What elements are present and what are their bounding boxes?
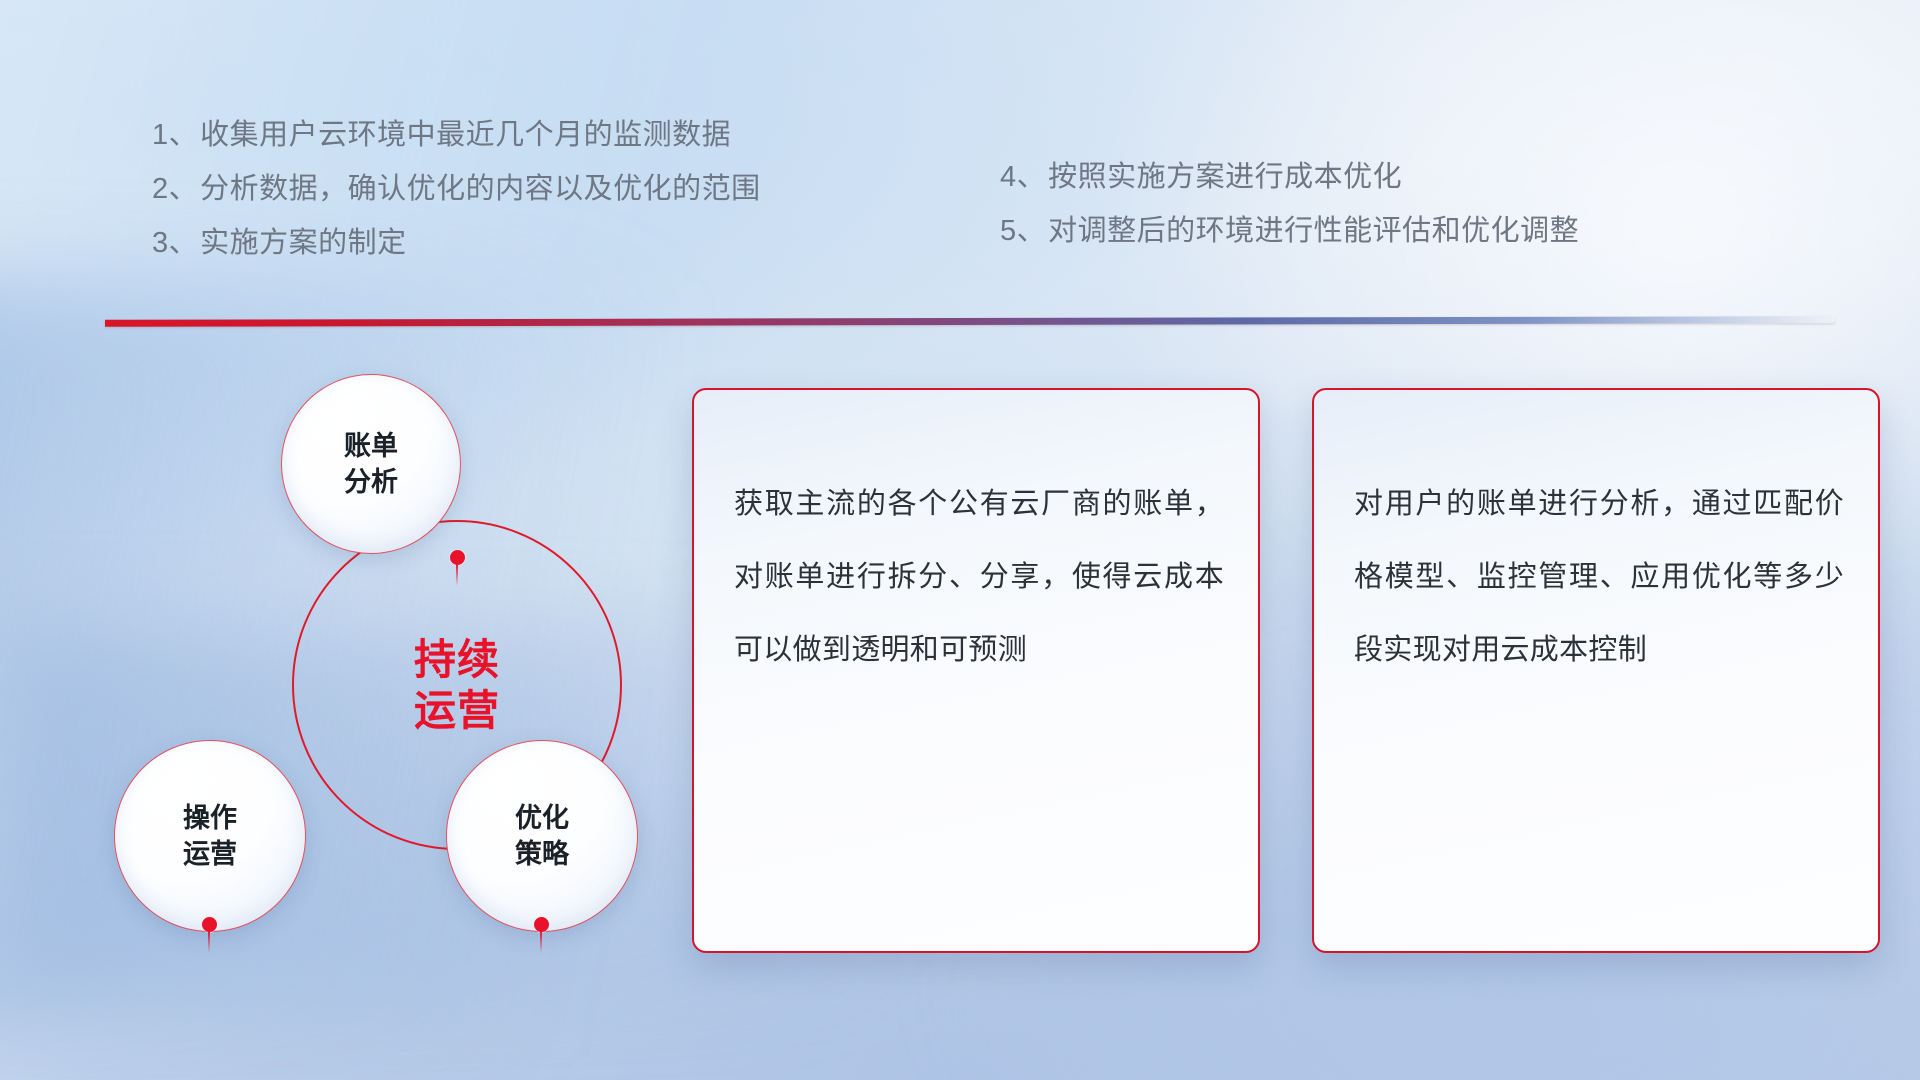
diagram-node-tick-top xyxy=(456,564,458,586)
step-text: 按照实施方案进行成本优化 xyxy=(1048,150,1402,204)
card-cloud-cost-optimization[interactable]: 对用户的账单进行分析，通过匹配价格模型、监控管理、应用优化等多少段实现对用云成本… xyxy=(1312,388,1880,953)
bubble-label-line-1: 优化 xyxy=(515,800,569,836)
diagram-bubble-operations[interactable]: 操作 运营 xyxy=(114,740,306,932)
card-body-text: 获取主流的各个公有云厂商的账单，对账单进行拆分、分享，使得云成本可以做到透明和可… xyxy=(734,468,1224,687)
step-text: 实施方案的制定 xyxy=(200,216,407,270)
bubble-label-line-2: 策略 xyxy=(515,836,569,872)
bubble-label-line-2: 分析 xyxy=(344,464,398,500)
card-multicloud-bill-platform[interactable]: 获取主流的各个公有云厂商的账单，对账单进行拆分、分享，使得云成本可以做到透明和可… xyxy=(692,388,1260,953)
diagram-node-tick-bottom-right xyxy=(540,931,542,953)
diagram-bubble-bill-analysis[interactable]: 账单 分析 xyxy=(281,374,461,554)
step-item: 4、 按照实施方案进行成本优化 xyxy=(1000,150,1800,204)
card-body-text: 对用户的账单进行分析，通过匹配价格模型、监控管理、应用优化等多少段实现对用云成本… xyxy=(1354,468,1844,687)
step-item: 1、 收集用户云环境中最近几个月的监测数据 xyxy=(152,108,912,162)
step-number: 4、 xyxy=(1000,150,1046,204)
step-item: 3、 实施方案的制定 xyxy=(152,216,912,270)
step-item: 5、 对调整后的环境进行性能评估和优化调整 xyxy=(1000,204,1800,258)
steps-right-column: 4、 按照实施方案进行成本优化 5、 对调整后的环境进行性能评估和优化调整 xyxy=(1000,150,1800,258)
diagram-node-dot-top xyxy=(450,550,465,565)
step-text: 收集用户云环境中最近几个月的监测数据 xyxy=(200,108,731,162)
bubble-label-line-1: 操作 xyxy=(183,800,237,836)
diagram-node-tick-bottom-left xyxy=(208,931,210,953)
step-number: 1、 xyxy=(152,108,198,162)
diagram-bubble-optimization-strategy[interactable]: 优化 策略 xyxy=(446,740,638,932)
step-number: 3、 xyxy=(152,216,198,270)
bubble-label-line-1: 账单 xyxy=(344,428,398,464)
diagram-node-dot-bottom-left xyxy=(202,917,217,932)
step-number: 2、 xyxy=(152,162,198,216)
cycle-diagram: 持续 运营 账单 分析 操作 运营 优化 策略 xyxy=(96,352,656,952)
diagram-node-dot-bottom-right xyxy=(534,917,549,932)
bubble-label-line-2: 运营 xyxy=(183,836,237,872)
step-item: 2、 分析数据，确认优化的内容以及优化的范围 xyxy=(152,162,912,216)
steps-left-column: 1、 收集用户云环境中最近几个月的监测数据 2、 分析数据，确认优化的内容以及优… xyxy=(152,108,912,270)
step-text: 分析数据，确认优化的内容以及优化的范围 xyxy=(200,162,761,216)
step-text: 对调整后的环境进行性能评估和优化调整 xyxy=(1048,204,1579,258)
step-number: 5、 xyxy=(1000,204,1046,258)
